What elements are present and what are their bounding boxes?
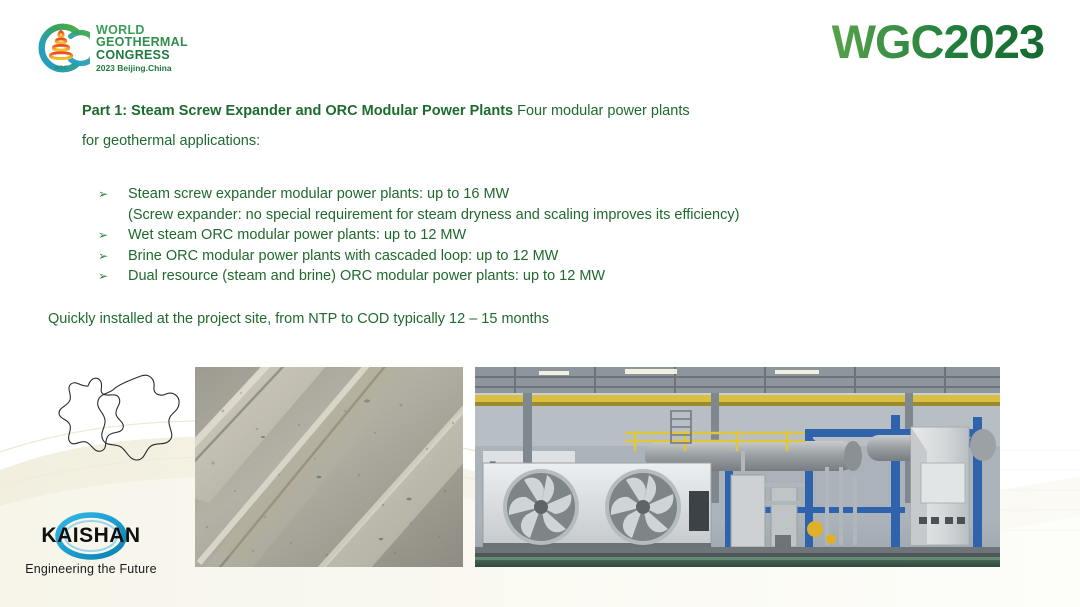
wgc-wordmark: WORLD GEOTHERMAL CONGRESS 2023 Beijing.C… [96, 24, 188, 73]
wgc-emblem-icon: WGC [32, 19, 90, 77]
list-item-label: Wet steam ORC modular power plants: up t… [128, 225, 978, 246]
wgc-word-line2: GEOTHERMAL [96, 36, 188, 49]
page-title: WGC2023 [832, 18, 1044, 65]
heading-rest-part: Four modular power plants [513, 103, 690, 119]
list-item: ➢ Dual resource (steam and brine) ORC mo… [98, 266, 978, 287]
arrowhead-bullet-icon: ➢ [98, 246, 128, 267]
wgc-word-subtitle: 2023 Beijing.China [96, 64, 188, 73]
kaishan-wordmark: KAISHAN [16, 524, 166, 548]
wgc-word-line3: CONGRESS [96, 49, 188, 62]
arrowhead-bullet-icon: ➢ [98, 266, 128, 287]
list-item-label: Brine ORC modular power plants with casc… [128, 246, 978, 267]
kaishan-mark: KAISHAN [16, 512, 166, 560]
heading-line-2: for geothermal applications: [82, 133, 260, 149]
list-item: ➢ Wet steam ORC modular power plants: up… [98, 225, 978, 246]
arrowhead-bullet-icon: ➢ [98, 225, 128, 246]
list-item-label: Steam screw expander modular power plant… [128, 184, 978, 205]
list-item: ➢ Steam screw expander modular power pla… [98, 184, 978, 205]
screw-rotor-profile-diagram [33, 368, 193, 480]
list-item-label: Dual resource (steam and brine) ORC modu… [128, 266, 978, 287]
kaishan-logo: KAISHAN Engineering the Future [16, 512, 166, 588]
heading-bold-part: Part 1: Steam Screw Expander and ORC Mod… [82, 103, 513, 119]
kaishan-tagline: Engineering the Future [16, 562, 166, 576]
section-heading: Part 1: Steam Screw Expander and ORC Mod… [82, 96, 962, 156]
list-item: ➢ Brine ORC modular power plants with ca… [98, 246, 978, 267]
bullet-list: ➢ Steam screw expander modular power pla… [98, 184, 978, 287]
svg-text:WGC: WGC [55, 65, 68, 71]
arrowhead-bullet-icon: ➢ [98, 184, 128, 205]
installation-note: Quickly installed at the project site, f… [48, 309, 549, 329]
modular-power-plant-photo: Energy n.com [475, 367, 1000, 567]
screw-rotor-closeup-photo [195, 367, 463, 567]
wgc-event-logo: WGC WORLD GEOTHERMAL CONGRESS 2023 Beiji… [32, 16, 222, 80]
slide: WGC WORLD GEOTHERMAL CONGRESS 2023 Beiji… [0, 0, 1080, 607]
list-item-subtext: (Screw expander: no special requirement … [128, 205, 978, 226]
